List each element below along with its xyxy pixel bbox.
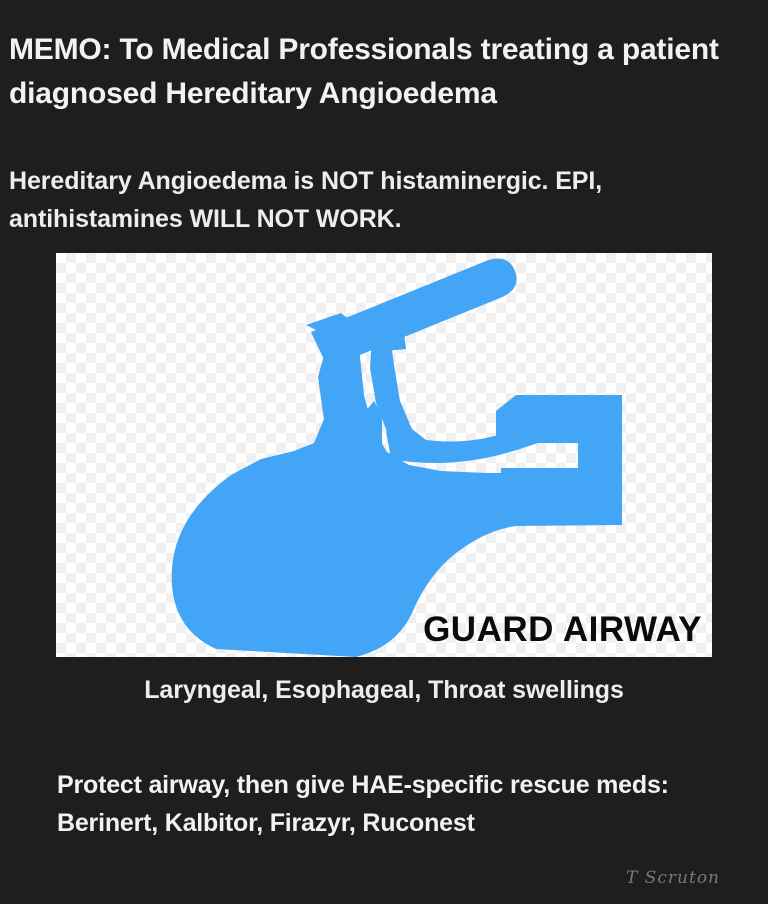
- figure-panel: GUARD AIRWAY: [56, 253, 712, 657]
- laryngoscope-airway-icon: [56, 253, 712, 657]
- memo-card: MEMO: To Medical Professionals treating …: [0, 0, 768, 904]
- warning-paragraph: Hereditary Angioedema is NOT histaminerg…: [9, 163, 761, 238]
- page-title: MEMO: To Medical Professionals treating …: [9, 28, 761, 117]
- treatment-instructions: Protect airway, then give HAE-specific r…: [57, 766, 737, 842]
- author-signature: T Scruton: [626, 868, 720, 888]
- figure-caption: GUARD AIRWAY: [423, 612, 702, 647]
- symptoms-line: Laryngeal, Esophageal, Throat swellings: [0, 676, 768, 705]
